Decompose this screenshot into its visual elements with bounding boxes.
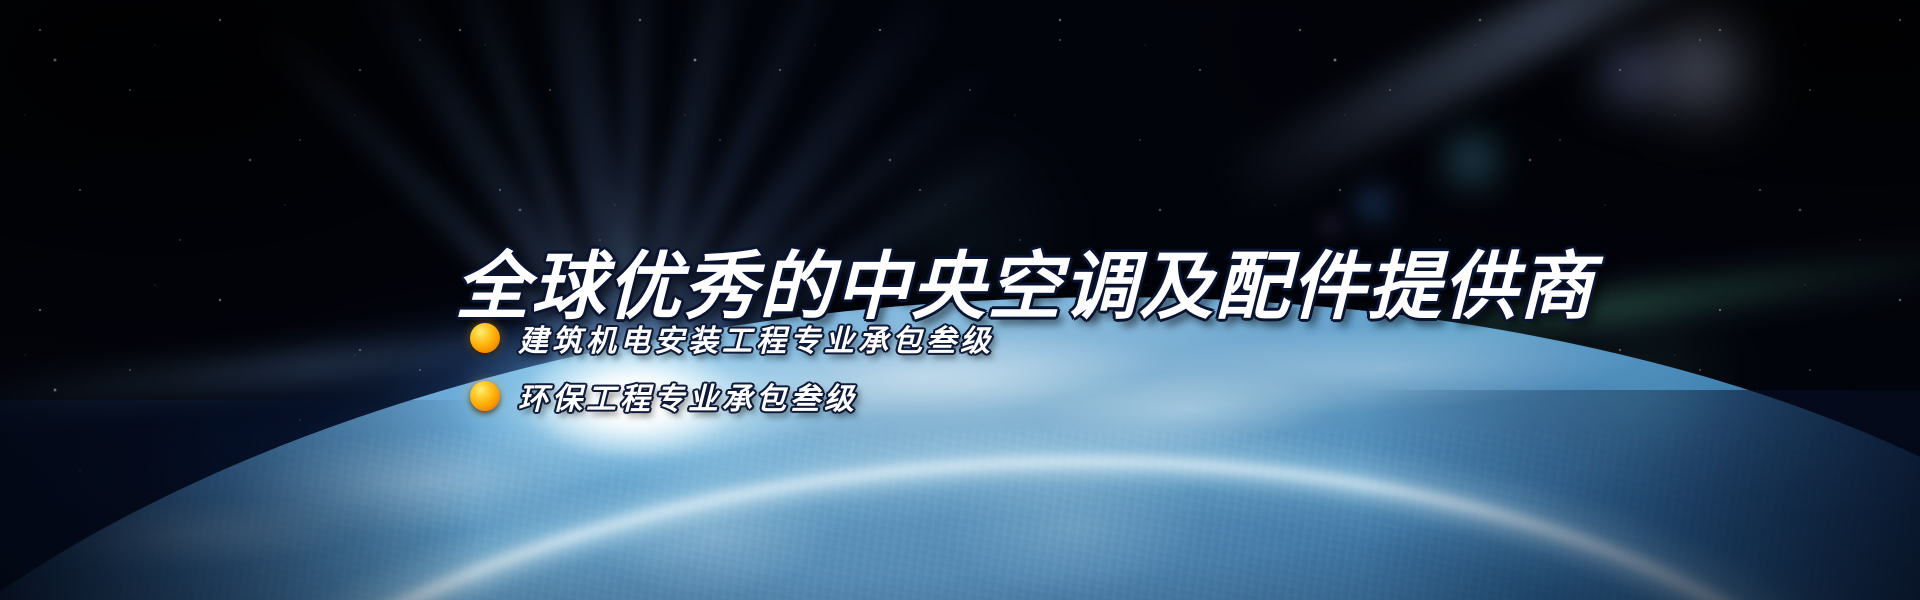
bullet-item-2: 环保工程专业承包叁级: [470, 374, 994, 418]
bullet-dot-icon: [470, 381, 500, 411]
bullet-item-1: 建筑机电安装工程专业承包叁级: [470, 316, 994, 360]
hero-banner: 全球优秀的中央空调及配件提供商 建筑机电安装工程专业承包叁级 环保工程专业承包叁…: [0, 0, 1920, 600]
bullet-label-1: 建筑机电安装工程专业承包叁级: [518, 316, 994, 360]
bullet-label-2: 环保工程专业承包叁级: [518, 374, 858, 418]
banner-bullet-list: 建筑机电安装工程专业承包叁级 环保工程专业承包叁级: [470, 316, 994, 418]
bullet-dot-icon: [470, 323, 500, 353]
banner-headline: 全球优秀的中央空调及配件提供商: [455, 250, 1595, 324]
banner-copy: 全球优秀的中央空调及配件提供商 建筑机电安装工程专业承包叁级 环保工程专业承包叁…: [0, 0, 1920, 600]
